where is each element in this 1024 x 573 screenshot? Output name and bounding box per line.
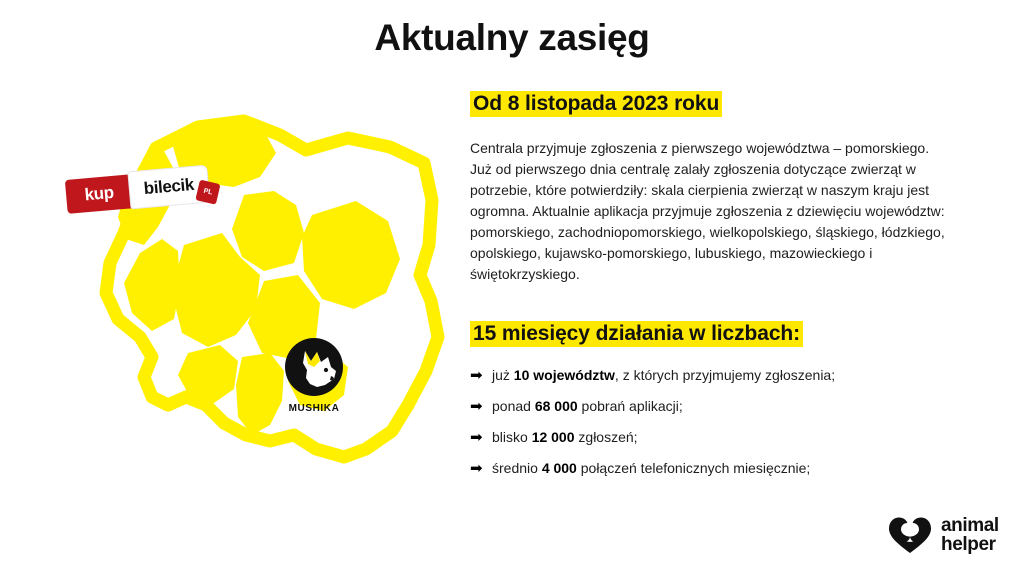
heart-dog-icon [888,516,932,554]
kupbilecik-red-part: kup [65,174,134,214]
stats-heading-wrap: 15 miesięcy działania w liczbach: [470,318,957,350]
intro-paragraph: Centrala przyjmuje zgłoszenia z pierwsze… [470,138,945,285]
fact-prefix: średnio [492,460,542,476]
list-item: ➡ blisko 12 000 zgłoszeń; [470,428,957,447]
kupbilecik-pl-label: PL [203,188,213,197]
fact-suffix: pobrań aplikacji; [578,398,683,414]
brand-line-2: helper [941,535,999,554]
fact-value: 4 000 [542,460,577,476]
arrow-right-icon: ➡ [470,366,492,385]
kupbilecik-bilecik-label: bilecik [143,175,195,199]
region-kujawsko-pomorskie [232,191,304,271]
content-column: Od 8 listopada 2023 roku Centrala przyjm… [470,88,957,490]
date-heading-wrap: Od 8 listopada 2023 roku [470,88,957,120]
region-lubuskie [124,239,180,331]
kupbilecik-kup-label: kup [84,183,115,205]
poland-map-svg [48,105,448,485]
fact-text: ponad 68 000 pobrań aplikacji; [492,397,683,416]
fact-prefix: ponad [492,398,535,414]
facts-list: ➡ już 10 województw, z których przyjmuje… [470,366,957,478]
stats-heading: 15 miesięcy działania w liczbach: [470,321,803,347]
mushika-logo[interactable]: MUSHIKA [276,337,352,417]
fact-value: 10 województw [514,367,615,383]
mushika-label: MUSHIKA [276,403,352,414]
region-mazowieckie [302,201,400,309]
fact-text: blisko 12 000 zgłoszeń; [492,428,638,447]
fact-value: 12 000 [532,429,575,445]
arrow-right-icon: ➡ [470,428,492,447]
fact-prefix: już [492,367,514,383]
mushika-dog-icon [284,337,344,397]
list-item: ➡ ponad 68 000 pobrań aplikacji; [470,397,957,416]
fact-value: 68 000 [535,398,578,414]
page-title: Aktualny zasięg [0,16,1024,60]
brand-line-1: animal [941,516,999,535]
arrow-right-icon: ➡ [470,459,492,478]
fact-suffix: połączeń telefonicznych miesięcznie; [577,460,810,476]
list-item: ➡ już 10 województw, z których przyjmuje… [470,366,957,385]
fact-text: już 10 województw, z których przyjmujemy… [492,366,835,385]
map-panel: kup bilecik PL MUSHIKA [48,105,448,485]
fact-prefix: blisko [492,429,532,445]
kupbilecik-pl-tag: PL [195,180,220,205]
animal-helper-logo[interactable]: animal helper [888,511,1010,559]
animal-helper-wordmark: animal helper [941,516,999,554]
fact-suffix: , z których przyjmujemy zgłoszenia; [615,367,835,383]
fact-text: średnio 4 000 połączeń telefonicznych mi… [492,459,810,478]
arrow-right-icon: ➡ [470,397,492,416]
date-heading: Od 8 listopada 2023 roku [470,91,722,117]
list-item: ➡ średnio 4 000 połączeń telefonicznych … [470,459,957,478]
fact-suffix: zgłoszeń; [575,429,638,445]
